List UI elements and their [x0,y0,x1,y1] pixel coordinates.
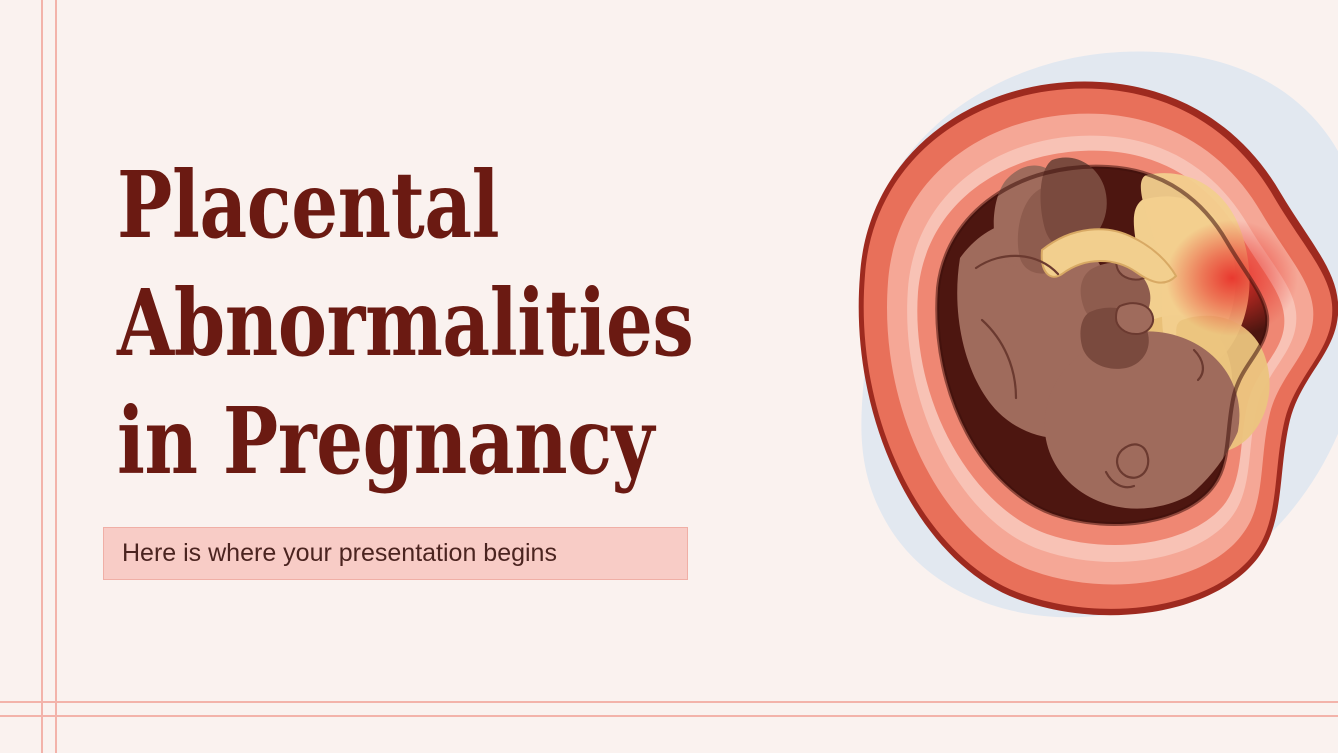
decorative-horizontal-line-1 [0,701,1338,703]
subtitle-box: Here is where your presentation begins [103,527,688,580]
decorative-vertical-line-2 [55,0,57,753]
decorative-vertical-line-1 [41,0,43,753]
page-title: Placental Abnormalities in Pregnancy [117,146,677,500]
abnormality-glow-spot [1166,220,1298,336]
title-block: Placental Abnormalities in Pregnancy [117,146,817,500]
presentation-slide: Placental Abnormalities in Pregnancy Her… [0,0,1338,753]
decorative-horizontal-line-2 [0,715,1338,717]
fetus-in-uterus-illustration [790,20,1338,660]
subtitle-text: Here is where your presentation begins [104,541,557,566]
